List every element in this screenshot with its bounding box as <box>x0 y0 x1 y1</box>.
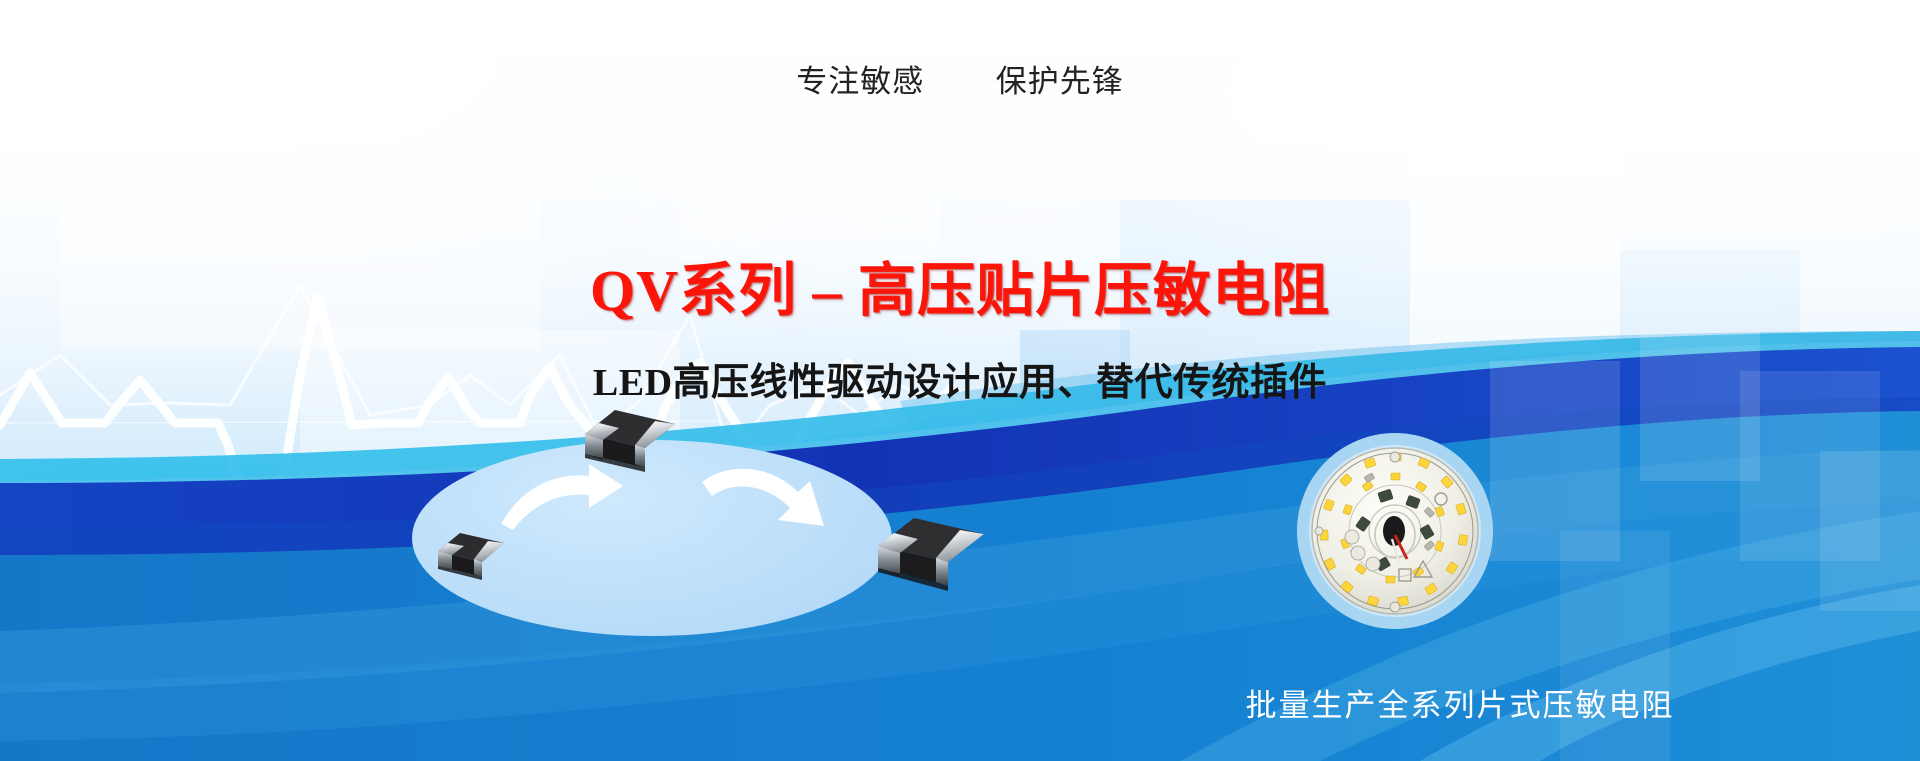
tagline-left-text: 专注敏感 <box>796 64 924 99</box>
smd-varistor-chip-medium <box>575 400 683 482</box>
curved-arrow-icon <box>700 458 840 540</box>
smd-varistor-chip-small <box>430 525 510 587</box>
banner-footnote: 批量生产全系列片式压敏电阻 <box>1200 680 1720 725</box>
banner-subtitle: LED高压线性驱动设计应用、替代传统插件 <box>0 351 1920 406</box>
product-banner: 专注敏感 保护先锋 QV系列 – 高压贴片压敏电阻 LED高压线性驱动设计应用、… <box>0 0 1920 761</box>
smd-varistor-chip-large <box>866 506 994 604</box>
led-pcb-module-photo <box>1295 431 1495 631</box>
banner-title: QV系列 – 高压贴片压敏电阻 <box>0 243 1920 327</box>
tagline-right-text: 保护先锋 <box>996 64 1124 99</box>
banner-tagline: 专注敏感 保护先锋 <box>0 56 1920 101</box>
